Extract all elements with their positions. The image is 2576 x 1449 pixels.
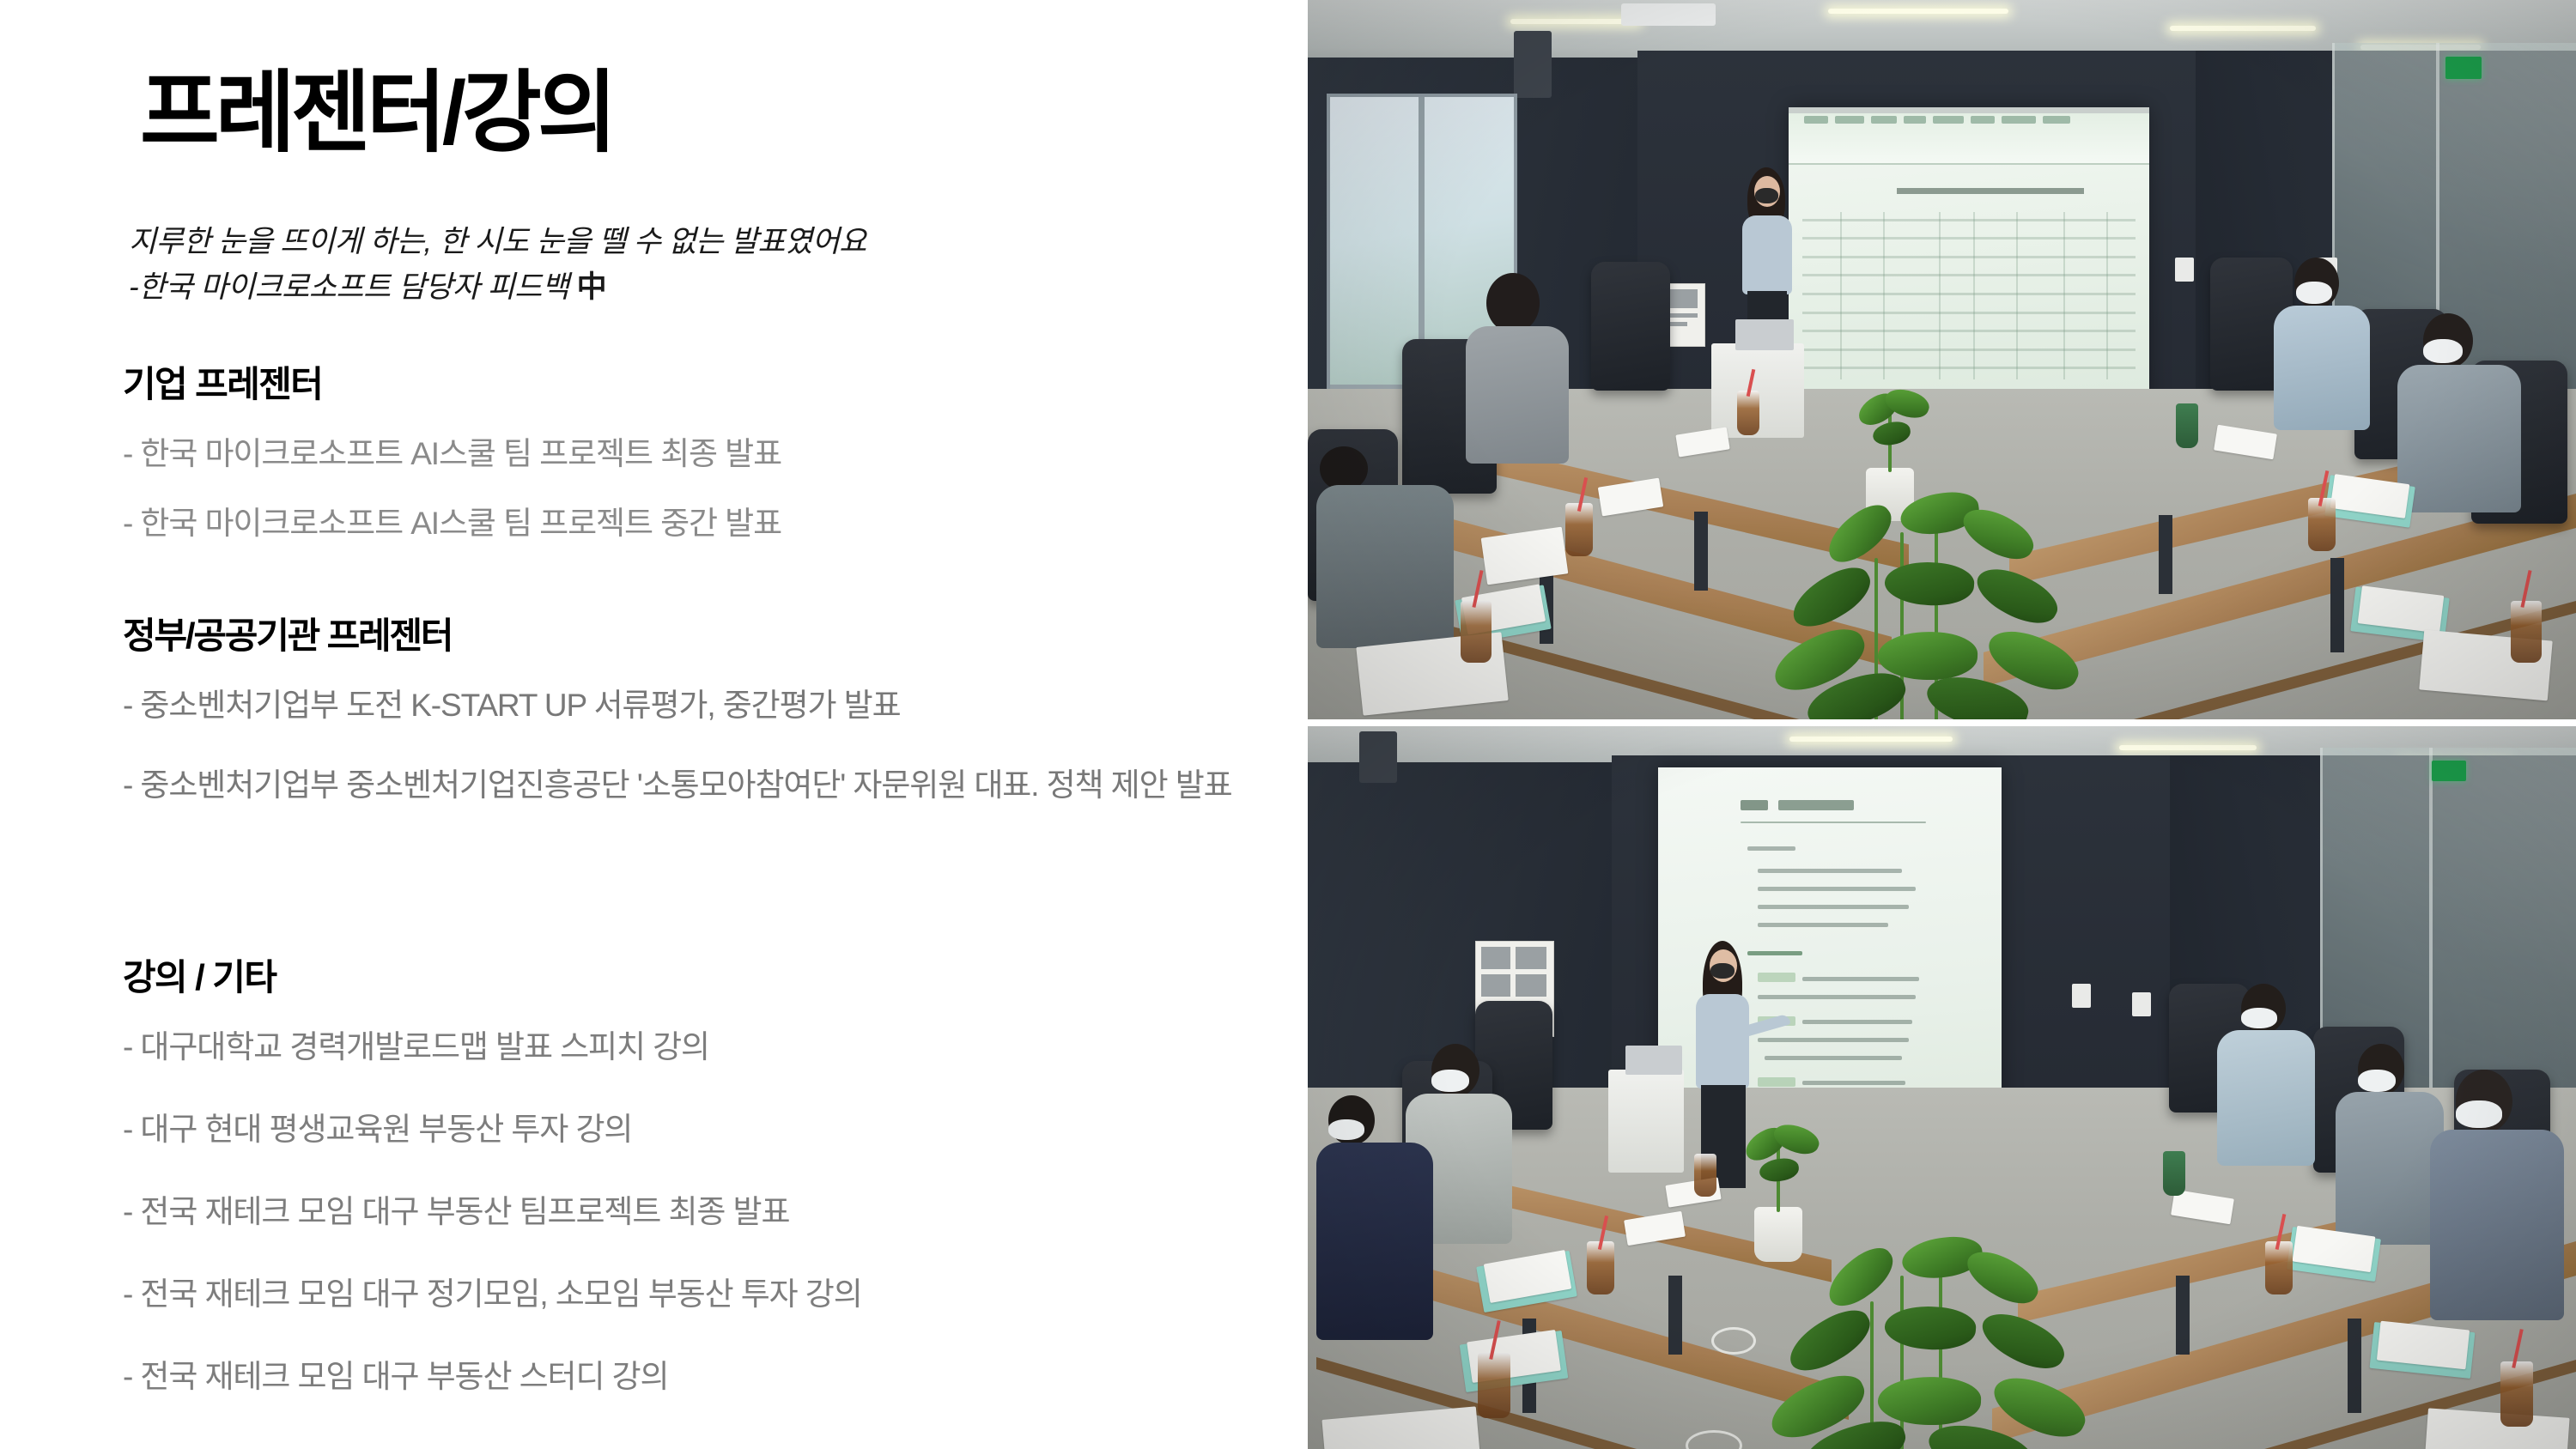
- spreadsheet-title-row: [1897, 188, 2084, 194]
- podium: [1608, 1070, 1684, 1173]
- screen-titlebar: [1789, 107, 2149, 113]
- section-heading-corporate: 기업 프레젠터: [123, 365, 781, 404]
- meeting-room-scene: [1308, 726, 2576, 1449]
- wall-outlet: [2072, 984, 2091, 1008]
- ceiling-light: [1828, 9, 2008, 14]
- attendee-head: [1486, 273, 1540, 333]
- page-title: 프레젠터/강의: [140, 67, 613, 161]
- presenter-torso: [1696, 994, 1749, 1088]
- attendee-torso: [2397, 365, 2521, 512]
- wall-outlet: [2175, 258, 2194, 282]
- projector-screen: [1789, 107, 2149, 416]
- face-mask: [1328, 1119, 1364, 1140]
- text-column: 프레젠터/강의 지루한 눈을 뜨이게 하는, 한 시도 눈을 뗄 수 없는 발표…: [0, 0, 1305, 1449]
- laptop: [1625, 1046, 1682, 1075]
- face-mask: [1710, 963, 1735, 979]
- drink-cup: [2511, 601, 2542, 663]
- drink-cup: [1737, 391, 1759, 435]
- attendee: [2430, 1070, 2567, 1319]
- table-leg: [2330, 558, 2344, 652]
- air-conditioner: [1621, 3, 1716, 26]
- face-mask: [2296, 282, 2332, 304]
- tumbler: [2163, 1151, 2185, 1196]
- face-mask: [1431, 1070, 1469, 1092]
- drink-cup: [1694, 1154, 1716, 1197]
- speaker-icon: [1514, 31, 1552, 98]
- attendee-torso: [2274, 306, 2370, 430]
- ceiling-light: [2170, 26, 2316, 31]
- list-item: - 전국 재테크 모임 대구 정기모임, 소모임 부동산 투자 강의: [123, 1274, 862, 1316]
- ceiling-light: [1510, 19, 1639, 24]
- attendee-torso: [1466, 326, 1569, 464]
- list-item: - 한국 마이크로소프트 AI스쿨 팀 프로젝트 중간 발표: [123, 503, 781, 545]
- ceiling-light: [1789, 737, 1953, 742]
- table-leg: [1668, 1276, 1682, 1355]
- list-item: - 중소벤처기업부 중소벤처기업진흥공단 '소통모아참여단' 자문위원 대표. …: [123, 765, 1232, 807]
- presentation-slide: 프레젠터/강의 지루한 눈을 뜨이게 하는, 한 시도 눈을 뗄 수 없는 발표…: [0, 0, 2576, 1449]
- testimonial-quote: 지루한 눈을 뜨이게 하는, 한 시도 눈을 뗄 수 없는 발표였어요 -한국 …: [129, 219, 866, 310]
- list-item: - 대구 현대 평생교육원 부동산 투자 강의: [123, 1109, 862, 1151]
- attendee: [2215, 984, 2318, 1164]
- table-leg: [2348, 1319, 2361, 1413]
- attendee-torso: [1316, 1143, 1433, 1340]
- office-chair: [1591, 262, 1670, 391]
- face-mask: [2456, 1100, 2502, 1128]
- section-heading-lecture: 강의 / 기타: [123, 958, 862, 997]
- face-mask: [1755, 188, 1778, 203]
- photo-column: [1308, 0, 2576, 1449]
- quote-attribution-suffix: 中: [577, 270, 606, 304]
- exit-sign-icon: [2432, 761, 2466, 781]
- list-item: - 전국 재테크 모임 대구 부동산 스터디 강의: [123, 1356, 862, 1398]
- spreadsheet-ribbon: [1789, 113, 2149, 165]
- floor-cable: [1711, 1327, 1756, 1355]
- speaker-icon: [1359, 731, 1397, 783]
- table-leg: [1694, 512, 1708, 591]
- face-mask: [2241, 1008, 2277, 1028]
- meeting-room-scene: [1308, 0, 2576, 719]
- laptop: [1735, 319, 1794, 350]
- attendee-torso: [2217, 1030, 2315, 1166]
- presenter-torso: [1742, 215, 1792, 294]
- list-item: - 전국 재테크 모임 대구 부동산 팀프로젝트 최종 발표: [123, 1191, 862, 1234]
- drink-cup: [2500, 1361, 2533, 1427]
- section-list-corporate: - 한국 마이크로소프트 AI스쿨 팀 프로젝트 최종 발표 - 한국 마이크로…: [123, 433, 781, 545]
- attendee: [1461, 273, 1572, 462]
- attendee: [1316, 1095, 1437, 1336]
- section-lecture-other: 강의 / 기타 - 대구대학교 경력개발로드맵 발표 스피치 강의 - 대구 현…: [123, 958, 862, 1438]
- plant-pot: [1754, 1207, 1802, 1262]
- table-leg: [2159, 515, 2172, 594]
- attendee: [2270, 258, 2373, 429]
- attendee: [2396, 313, 2524, 511]
- section-heading-government: 정부/공공기관 프레젠터: [123, 616, 1232, 656]
- attendee-torso: [2336, 1092, 2444, 1245]
- list-item: - 중소벤처기업부 도전 K-START UP 서류평가, 중간평가 발표: [123, 685, 1232, 727]
- face-mask: [2358, 1070, 2396, 1092]
- section-corporate-presenter: 기업 프레젠터 - 한국 마이크로소프트 AI스쿨 팀 프로젝트 최종 발표 -…: [123, 365, 781, 573]
- section-government-presenter: 정부/공공기관 프레젠터 - 중소벤처기업부 도전 K-START UP 서류평…: [123, 616, 1232, 845]
- attendee: [1316, 446, 1462, 644]
- quote-attribution: -한국 마이크로소프트 담당자 피드백 中: [129, 264, 866, 310]
- section-list-lecture: - 대구대학교 경력개발로드맵 발표 스피치 강의 - 대구 현대 평생교육원 …: [123, 1027, 862, 1397]
- table-leg: [2176, 1276, 2190, 1355]
- drink-cup: [1478, 1353, 1510, 1418]
- ceiling-light: [2119, 745, 2257, 750]
- drink-cup: [2308, 498, 2336, 551]
- quote-text: 지루한 눈을 뜨이게 하는, 한 시도 눈을 뗄 수 없는 발표였어요: [129, 219, 866, 264]
- tumbler: [2176, 403, 2198, 448]
- drink-cup: [2265, 1241, 2293, 1294]
- list-item: - 대구대학교 경력개발로드맵 발표 스피치 강의: [123, 1027, 862, 1069]
- list-item: - 한국 마이크로소프트 AI스쿨 팀 프로젝트 최종 발표: [123, 433, 781, 476]
- meeting-room-photo-top: [1308, 0, 2576, 719]
- attendee-torso: [1316, 485, 1454, 648]
- face-mask: [2423, 339, 2463, 363]
- quote-attribution-text: -한국 마이크로소프트 담당자 피드백: [129, 270, 577, 304]
- exit-sign-icon: [2445, 57, 2482, 79]
- wall-outlet: [2132, 992, 2151, 1016]
- drink-cup: [1461, 601, 1492, 663]
- attendee-torso: [2430, 1130, 2564, 1320]
- meeting-room-photo-bottom: [1308, 726, 2576, 1449]
- section-list-government: - 중소벤처기업부 도전 K-START UP 서류평가, 중간평가 발표 - …: [123, 685, 1232, 807]
